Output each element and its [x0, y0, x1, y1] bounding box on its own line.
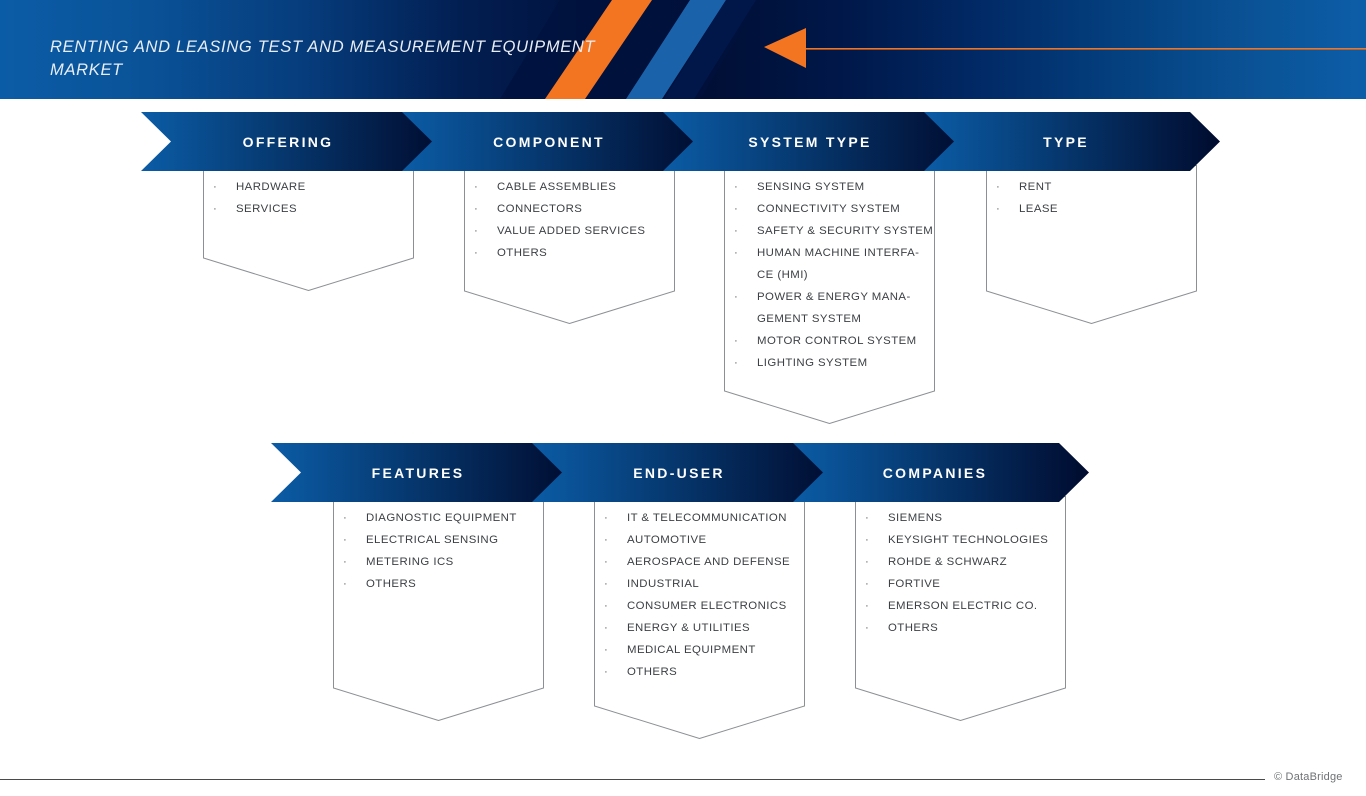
list-type: ·RENT ·LEASE [986, 165, 1058, 220]
list-item-label: CONNECTORS [497, 203, 582, 215]
list-item: ·OTHERS [341, 573, 517, 595]
bullet-icon: · [343, 529, 347, 551]
infographic-page: RENTING AND LEASING TEST AND MEASUREMENT… [0, 0, 1366, 796]
list-item-label: LIGHTING SYSTEM [757, 357, 868, 369]
list-item-label: MEDICAL EQUIPMENT [627, 644, 756, 656]
copyright-credit: © DataBridge [1274, 771, 1343, 783]
list-item: ·ELECTRICAL SENSING [341, 529, 517, 551]
list-item-label: AEROSPACE AND DEFENSE [627, 556, 790, 568]
list-item: ·CONSUMER ELECTRONICS [602, 595, 790, 617]
list-item: ·OTHERS [472, 242, 645, 264]
list-item-label: HARDWARE [236, 181, 306, 193]
pennant-box-system-type: · SENSING SYSTEM ·CONNECTIVITY SYSTEM ·S… [724, 165, 935, 424]
bullet-icon: · [865, 529, 869, 551]
bullet-icon: · [474, 220, 478, 242]
list-item: ·MOTOR CONTROL SYSTEM [732, 330, 933, 352]
pennant-box-companies: ·SIEMENS ·KEYSIGHT TECHNOLOGIES ·ROHDE &… [855, 496, 1066, 721]
list-item-label: SERVICES [236, 203, 297, 215]
bullet-icon: · [865, 595, 869, 617]
list-item-label: AUTOMOTIVE [627, 534, 707, 546]
bullet-icon: · [213, 198, 217, 220]
list-item: ·OTHERS [602, 661, 790, 683]
list-item: ·MEDICAL EQUIPMENT [602, 639, 790, 661]
list-item: ·LIGHTING SYSTEM [732, 352, 933, 374]
bullet-icon: · [734, 286, 738, 308]
list-item-label: OTHERS [366, 578, 416, 590]
bullet-icon: · [734, 220, 738, 242]
bullet-icon: · [865, 507, 869, 529]
list-item-label: VALUE ADDED SERVICES [497, 225, 645, 237]
footer-divider [0, 779, 1265, 780]
list-item-label: ELECTRICAL SENSING [366, 534, 498, 546]
list-features: ·DIAGNOSTIC EQUIPMENT ·ELECTRICAL SENSIN… [333, 496, 517, 595]
list-item: ·SIEMENS [863, 507, 1048, 529]
pennant-box-features: ·DIAGNOSTIC EQUIPMENT ·ELECTRICAL SENSIN… [333, 496, 544, 721]
left-arrow-icon [764, 28, 806, 68]
banner-type[interactable]: TYPE [924, 112, 1220, 171]
list-system-type: · SENSING SYSTEM ·CONNECTIVITY SYSTEM ·S… [724, 165, 933, 374]
list-item-label: IT & TELECOMMUNICATION [627, 512, 787, 524]
pennant-box-component: ·CABLE ASSEMBLIES ·CONNECTORS ·VALUE ADD… [464, 165, 675, 324]
bullet-icon: · [343, 573, 347, 595]
list-item: ·KEYSIGHT TECHNOLOGIES [863, 529, 1048, 551]
pennant-box-type: ·RENT ·LEASE [986, 165, 1197, 324]
bullet-icon: · [996, 176, 1000, 198]
list-item: ·CONNECTORS [472, 198, 645, 220]
list-component: ·CABLE ASSEMBLIES ·CONNECTORS ·VALUE ADD… [464, 165, 645, 264]
list-item: ·SAFETY & SECURITY SYSTEM [732, 220, 933, 242]
list-item: ·CONNECTIVITY SYSTEM [732, 198, 933, 220]
list-item-label: KEYSIGHT TECHNOLOGIES [888, 534, 1048, 546]
list-item: ·HARDWARE [211, 176, 306, 198]
list-item-label: ROHDE & SCHWARZ [888, 556, 1007, 568]
bullet-icon: · [865, 573, 869, 595]
list-item-label: SAFETY & SECURITY SYSTEM [757, 225, 933, 237]
bullet-icon: · [474, 176, 478, 198]
list-item-label: LEASE [1019, 203, 1058, 215]
bullet-icon: · [213, 176, 217, 198]
bullet-icon: · [604, 507, 608, 529]
list-offering: ·HARDWARE ·SERVICES [203, 165, 306, 220]
list-item-label: ENERGY & UTILITIES [627, 622, 750, 634]
list-item: ·OTHERS [863, 617, 1048, 639]
list-item-label: DIAGNOSTIC EQUIPMENT [366, 512, 517, 524]
list-item-label: HUMAN MACHINE INTERFA- CE (HMI) [757, 247, 919, 281]
list-item: ·FORTIVE [863, 573, 1048, 595]
list-item-label: INDUSTRIAL [627, 578, 699, 590]
bullet-icon: · [604, 573, 608, 595]
list-item: ·POWER & ENERGY MANA- GEMENT SYSTEM [732, 286, 933, 330]
bullet-icon: · [343, 507, 347, 529]
bullet-icon: · [996, 198, 1000, 220]
list-item: ·VALUE ADDED SERVICES [472, 220, 645, 242]
chevron-shape [793, 443, 1089, 502]
list-item-label: OTHERS [627, 666, 677, 678]
list-item-label: CABLE ASSEMBLIES [497, 181, 616, 193]
list-item: ·ENERGY & UTILITIES [602, 617, 790, 639]
chevron-shape [924, 112, 1220, 171]
list-item-label: RENT [1019, 181, 1052, 193]
bullet-icon: · [604, 595, 608, 617]
bullet-icon: · [734, 330, 738, 352]
list-item-label: POWER & ENERGY MANA- GEMENT SYSTEM [757, 291, 911, 325]
bullet-icon: · [474, 242, 478, 264]
pennant-box-offering: ·HARDWARE ·SERVICES [203, 165, 414, 291]
list-item: ·AEROSPACE AND DEFENSE [602, 551, 790, 573]
list-item: · SENSING SYSTEM [732, 176, 933, 198]
list-item: ·SERVICES [211, 198, 306, 220]
list-item-label: SENSING SYSTEM [757, 181, 865, 193]
list-item: ·AUTOMOTIVE [602, 529, 790, 551]
list-item: ·EMERSON ELECTRIC CO. [863, 595, 1048, 617]
list-item-label: MOTOR CONTROL SYSTEM [757, 335, 917, 347]
list-item: ·LEASE [994, 198, 1058, 220]
list-item: ·DIAGNOSTIC EQUIPMENT [341, 507, 517, 529]
page-title: RENTING AND LEASING TEST AND MEASUREMENT… [50, 36, 620, 82]
bullet-icon: · [604, 617, 608, 639]
header-banner: RENTING AND LEASING TEST AND MEASUREMENT… [0, 0, 1366, 99]
bullet-icon: · [604, 639, 608, 661]
bullet-icon: · [604, 661, 608, 683]
list-item-label: OTHERS [497, 247, 547, 259]
list-item: ·INDUSTRIAL [602, 573, 790, 595]
bullet-icon: · [604, 529, 608, 551]
list-item-label: EMERSON ELECTRIC CO. [888, 600, 1038, 612]
bullet-icon: · [474, 198, 478, 220]
bullet-icon: · [865, 551, 869, 573]
list-item-label: METERING ICS [366, 556, 454, 568]
bullet-icon: · [734, 242, 738, 264]
list-companies: ·SIEMENS ·KEYSIGHT TECHNOLOGIES ·ROHDE &… [855, 496, 1048, 639]
list-end-user: ·IT & TELECOMMUNICATION ·AUTOMOTIVE ·AER… [594, 496, 790, 683]
bullet-icon: · [734, 352, 738, 374]
list-item: ·HUMAN MACHINE INTERFA- CE (HMI) [732, 242, 933, 286]
list-item: ·ROHDE & SCHWARZ [863, 551, 1048, 573]
list-item: ·IT & TELECOMMUNICATION [602, 507, 790, 529]
orange-rule [806, 48, 1366, 50]
list-item: ·METERING ICS [341, 551, 517, 573]
list-item: ·RENT [994, 176, 1058, 198]
bullet-icon: · [734, 176, 738, 198]
list-item-label: CONSUMER ELECTRONICS [627, 600, 787, 612]
list-item-label: CONNECTIVITY SYSTEM [757, 203, 900, 215]
bullet-icon: · [604, 551, 608, 573]
list-item: ·CABLE ASSEMBLIES [472, 176, 645, 198]
banner-companies[interactable]: COMPANIES [793, 443, 1089, 502]
list-item-label: SIEMENS [888, 512, 942, 524]
bullet-icon: · [734, 198, 738, 220]
bullet-icon: · [343, 551, 347, 573]
list-item-label: OTHERS [888, 622, 938, 634]
pennant-box-end-user: ·IT & TELECOMMUNICATION ·AUTOMOTIVE ·AER… [594, 496, 805, 739]
list-item-label: FORTIVE [888, 578, 940, 590]
bullet-icon: · [865, 617, 869, 639]
